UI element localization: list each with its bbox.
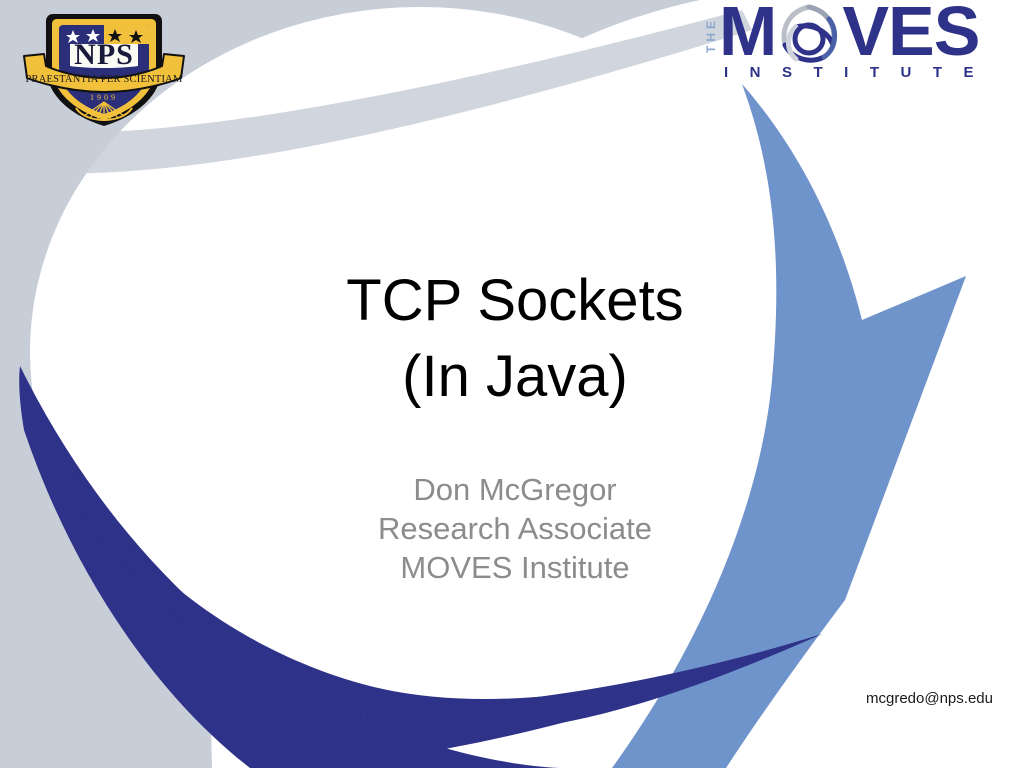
moves-institute-logo: THE M VES INSTITUTE: [695, 2, 1020, 102]
moves-institute-label: INSTITUTE: [724, 64, 995, 81]
nps-acronym: NPS: [74, 38, 134, 71]
slide-subtitle: Don McGregor Research Associate MOVES In…: [160, 470, 870, 587]
contact-email: mcgredo@nps.edu: [866, 690, 993, 707]
presentation-slide: NPS PRAESTANTIA PER SCIENTIAM 1909 THE M: [0, 0, 1024, 768]
medium-blue-fan-shape: [612, 84, 966, 768]
slide-title: TCP Sockets (In Java): [160, 263, 870, 415]
moves-wordmark: M VES: [719, 0, 979, 67]
moves-the-label: THE: [704, 5, 718, 65]
moves-hexagon-slot: [776, 1, 842, 67]
moves-letters-ves: VES: [842, 0, 979, 70]
subtitle-organization: MOVES Institute: [160, 548, 870, 587]
moves-letter-m: M: [719, 0, 776, 70]
nps-motto: PRAESTANTIA PER SCIENTIAM: [25, 74, 182, 85]
nps-year: 1909: [90, 93, 118, 102]
title-line-2: (In Java): [160, 339, 870, 415]
title-line-1: TCP Sockets: [160, 263, 870, 339]
moves-hexagon-icon: [776, 1, 842, 67]
nps-logo: NPS PRAESTANTIA PER SCIENTIAM 1909: [16, 4, 192, 130]
subtitle-role: Research Associate: [160, 509, 870, 548]
subtitle-author: Don McGregor: [160, 470, 870, 509]
